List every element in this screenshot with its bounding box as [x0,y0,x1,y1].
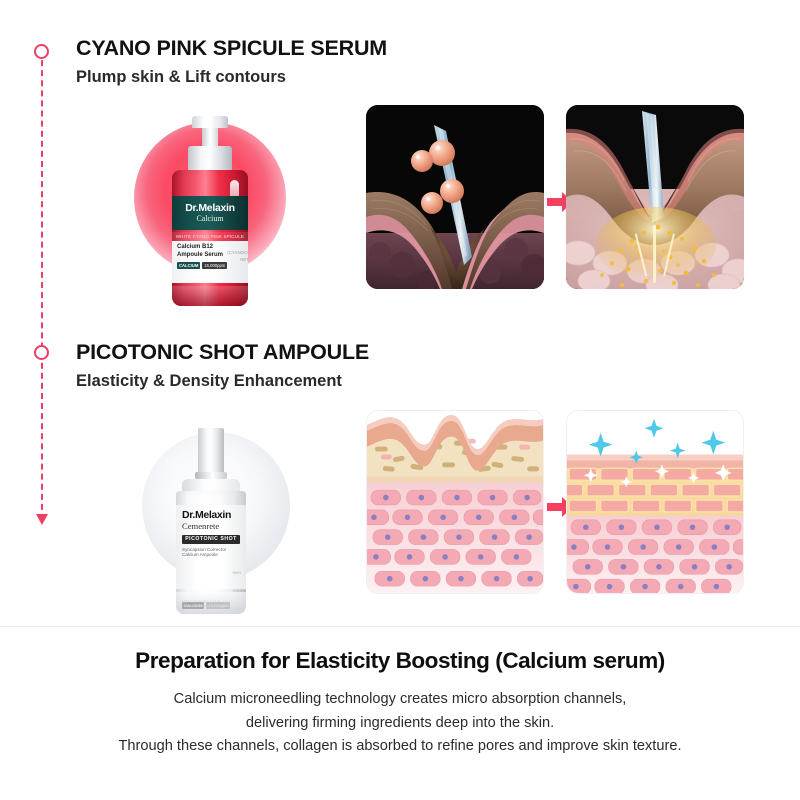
ampoule-description: Syncapsion Corrector Calcium Ampoule [182,547,240,558]
pump-neck [202,128,218,146]
pump-collar [188,146,232,172]
section-heading-2: PICOTONIC SHOT AMPOULE Elasticity & Dens… [76,340,369,391]
serum-spec-title: Calcium B12 [177,244,227,251]
caption-line-1: Calcium microneedling technology creates… [0,688,800,712]
ampoule-product-stage: Dr.Melaxin Cemenrete PICOTONIC SHOT Sync… [112,418,312,618]
serum-bottle-body: Dr.Melaxin Calcium WHITE CYANO PINK SPIC… [172,170,248,306]
caption-line-3: Through these channels, collagen is abso… [0,735,800,759]
section-2-title: PICOTONIC SHOT AMPOULE [76,340,369,365]
section-1-title: CYANO PINK SPICULE SERUM [76,36,387,61]
serum-chip-calcium: CALCIUM [177,262,200,269]
needle-after-illustration [566,105,744,289]
timeline-marker-step-1 [34,44,49,59]
panel-spicule-needle-after [566,105,744,289]
ampoule-variant-text: PICOTONIC SHOT [185,536,237,542]
bottle-base-shading [172,286,248,306]
serum-spec-label: Calcium B12 Ampoule Serum CALCIUM 15,000… [172,241,248,283]
dropper-cap [198,428,224,474]
serum-variant-text: WHITE CYANO PINK SPICULE [176,234,244,239]
serum-product-stage: Dr.Melaxin Calcium WHITE CYANO PINK SPIC… [110,108,310,308]
section-2-subtitle: Elasticity & Density Enhancement [76,372,369,391]
serum-ingredient-2: (CYANOCOBALAMIN) [227,250,248,255]
serum-spec-title2: Ampoule Serum [177,252,227,259]
timeline-down-arrow-icon [36,514,48,525]
section-heading-1: CYANO PINK SPICULE SERUM Plump skin & Li… [76,36,387,87]
serum-brand-name: Dr.Melaxin [185,203,235,214]
cyano-pink-spicule-serum-bottle: Dr.Melaxin Calcium WHITE CYANO PINK SPIC… [162,116,258,306]
ampoule-bottle-body: Dr.Melaxin Cemenrete PICOTONIC SHOT Sync… [176,491,246,614]
needle-before-illustration [366,105,544,289]
serum-variant-band: WHITE CYANO PINK SPICULE [172,232,248,241]
section-divider [0,626,800,627]
skin-before-illustration [367,411,543,593]
skin-after-illustration [567,411,743,593]
ampoule-liquid-level [176,592,246,614]
section-1-subtitle: Plump skin & Lift contours [76,68,387,87]
timeline-dashed-line [41,50,43,520]
serum-product-line: Calcium [196,215,223,223]
timeline-marker-step-2 [34,345,49,360]
picotonic-shot-ampoule-bottle: Dr.Melaxin Cemenrete PICOTONIC SHOT Sync… [162,428,260,614]
ampoule-product-line: Cemenrete [182,522,240,531]
panel-skin-structure-after [566,410,744,594]
ampoule-variant-band: PICOTONIC SHOT [182,535,240,544]
panel-skin-structure-before [366,410,544,594]
dropper-cap-rim [195,472,227,479]
caption-body: Calcium microneedling technology creates… [0,688,800,759]
ampoule-label: Dr.Melaxin Cemenrete PICOTONIC SHOT Sync… [176,505,246,589]
pump-head [192,116,228,128]
bottom-caption-block: Preparation for Elasticity Boosting (Cal… [0,648,800,759]
serum-net-content-label: NET CONTENT [240,257,248,262]
panel-spicule-needle-before [366,105,544,289]
caption-title: Preparation for Elasticity Boosting (Cal… [0,648,800,674]
serum-brand-label: Dr.Melaxin Calcium [172,196,248,230]
serum-chip-ppm: 15,000ppm [202,262,227,269]
progress-timeline [34,44,50,530]
caption-line-2: delivering firming ingredients deep into… [0,712,800,736]
ampoule-brand-name: Dr.Melaxin [182,510,240,521]
